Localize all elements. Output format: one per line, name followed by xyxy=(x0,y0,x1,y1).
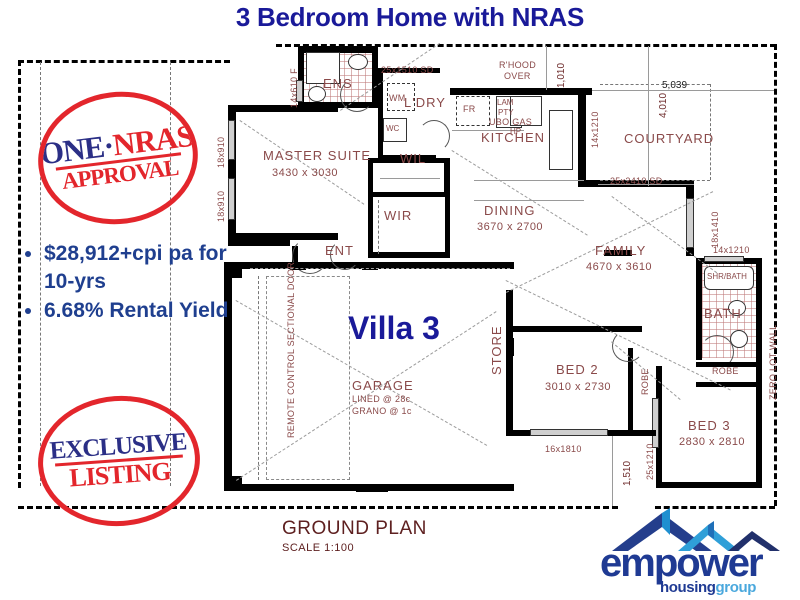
wall-kitchen-right xyxy=(578,88,586,186)
room-label-bed2: BED 2 xyxy=(556,362,599,377)
garage-sectional-door xyxy=(266,276,350,480)
window-tag-kitchen: 14x1210 xyxy=(590,111,600,148)
robe-label-bed3: ROBE xyxy=(712,366,739,376)
wir-shelf-line xyxy=(378,200,379,254)
lam-label: LAM xyxy=(497,98,513,107)
window-master-upper xyxy=(228,120,235,160)
wil-shelf-line xyxy=(380,178,440,179)
room-label-master: MASTER SUITE xyxy=(263,148,371,163)
shr-bath-label: SHR/BATH xyxy=(707,272,747,281)
ground-plan-scale: SCALE 1:100 xyxy=(282,542,427,554)
window-tag-ens: 14x610 F xyxy=(289,68,299,108)
garage-apron-stub xyxy=(356,484,388,492)
boundary-left xyxy=(18,60,21,488)
ground-plan-title: GROUND PLAN xyxy=(282,518,427,540)
dining-edge xyxy=(474,180,584,181)
room-label-ens: ENS xyxy=(323,76,353,91)
wall-store-right xyxy=(506,290,513,326)
hp-label: HP xyxy=(510,127,521,136)
dim-1010: 1,010 xyxy=(556,63,567,88)
fr-label: FR xyxy=(463,104,476,114)
window-tag-bed2: 16x1810 xyxy=(545,444,582,454)
room-label-store: STORE xyxy=(489,325,504,375)
villa-label: Villa 3 xyxy=(348,310,440,347)
empower-housing-logo: empower housinggroup xyxy=(600,505,795,595)
boundary-top-left xyxy=(18,60,230,63)
kitchen-bench xyxy=(549,110,573,170)
boundary-right xyxy=(774,44,777,506)
garage-door-note: REMOTE CONTROL SECTIONAL DOOR xyxy=(286,262,296,438)
zero-lot-wall-label: ZERO LOT WALL xyxy=(768,325,778,400)
logo-subtitle: housinggroup xyxy=(660,579,756,596)
window-tag-family: 18x1410 xyxy=(710,211,720,248)
stamp-excl-line2: LISTING xyxy=(69,460,172,491)
window-tag-master-a: 18x910 xyxy=(216,137,226,168)
rhood-label-1: R'HOOD xyxy=(499,60,536,70)
floor-plan-flyer: 3 Bedroom Home with NRAS xyxy=(0,0,800,600)
window-tag-master-b: 18x910 xyxy=(216,191,226,222)
dim-5039: 5,039 xyxy=(662,80,687,91)
room-label-ent: ENT xyxy=(325,243,354,258)
wall-wir-bottom xyxy=(368,252,450,258)
window-tag-bath: 14x1210 xyxy=(713,245,750,255)
wall-bath-right xyxy=(756,258,762,488)
feature-bullets: $28,912+cpi pa for 10-yrs 6.68% Rental Y… xyxy=(24,240,254,327)
window-tag-ldry-sd: 25x1510 SD xyxy=(381,65,434,75)
room-label-wir: WIR xyxy=(384,208,412,223)
dim-line-1010 xyxy=(546,46,547,90)
robe-label-bed2: ROBE xyxy=(640,368,650,395)
wall-kitchen-top xyxy=(450,88,592,95)
wall-master-bottom xyxy=(228,233,338,240)
dining-edge-2 xyxy=(474,200,584,201)
bullet-item-rent: $28,912+cpi pa for 10-yrs xyxy=(44,240,254,295)
ubo-gas-label: UBO GAS xyxy=(489,117,532,127)
window-tag-bed3: 25x1210 xyxy=(645,443,655,480)
rhood-label-2: OVER xyxy=(504,71,531,81)
wall-bed3-bottom xyxy=(656,482,762,488)
ground-plan-caption: GROUND PLAN SCALE 1:100 xyxy=(282,518,427,554)
dim-1510: 1,510 xyxy=(622,461,633,486)
logo-wordmark: empower xyxy=(600,543,762,583)
window-family xyxy=(686,198,694,248)
stamp-one-nras-approval: ONE·NRAS APPROVAL xyxy=(31,83,206,234)
room-label-bath: BATH xyxy=(704,306,742,321)
garage-lined-note: LINED @ 28c xyxy=(352,394,410,404)
window-bath xyxy=(704,256,744,262)
window-bed2 xyxy=(530,429,608,436)
room-label-dining: DINING xyxy=(484,203,536,218)
basin-fixture xyxy=(348,54,368,70)
logo-sub-housing: housing xyxy=(660,579,716,596)
room-dim-master: 3430 x 3030 xyxy=(272,167,338,179)
page-title: 3 Bedroom Home with NRAS xyxy=(140,2,680,34)
ldry-door-arc xyxy=(418,120,450,152)
room-label-courtyard: COURTYARD xyxy=(624,131,714,146)
logo-sub-group: group xyxy=(716,579,757,596)
bullet-item-yield: 6.68% Rental Yield xyxy=(44,297,254,325)
room-label-family: FAMILY xyxy=(595,243,646,258)
wall-robe-bed3-bottom xyxy=(696,382,762,387)
room-label-ldry: L'DRY xyxy=(404,95,446,110)
wir-area xyxy=(373,197,445,255)
stamp-exclusive-listing: EXCLUSIVE LISTING xyxy=(34,391,205,532)
wc-label: WC xyxy=(386,124,399,133)
room-dim-dining: 3670 x 2700 xyxy=(477,221,543,233)
window-master-lower xyxy=(228,178,235,220)
pty-label: PTY xyxy=(498,108,514,117)
dim-line-1510 xyxy=(612,436,613,506)
courtyard-outline-top xyxy=(600,84,710,85)
room-label-wil: WIL xyxy=(400,151,426,166)
dim-4010: 4,010 xyxy=(658,93,669,118)
window-tag-courtyard-sd: 25x2410 SD xyxy=(610,176,663,186)
room-label-bed3: BED 3 xyxy=(688,418,731,433)
room-dim-family: 4670 x 3610 xyxy=(586,261,652,273)
room-dim-bed3: 2830 x 2810 xyxy=(679,436,745,448)
room-dim-bed2: 3010 x 2730 xyxy=(545,381,611,393)
garage-door-track xyxy=(258,276,259,480)
wall-store-stub xyxy=(505,338,514,356)
room-label-garage: GARAGE xyxy=(352,378,414,393)
wm-label: WM xyxy=(389,93,406,103)
dim-line-4010 xyxy=(648,46,649,186)
garage-grano-note: GRANO @ 1c xyxy=(352,406,412,416)
window-bed3 xyxy=(652,398,659,448)
